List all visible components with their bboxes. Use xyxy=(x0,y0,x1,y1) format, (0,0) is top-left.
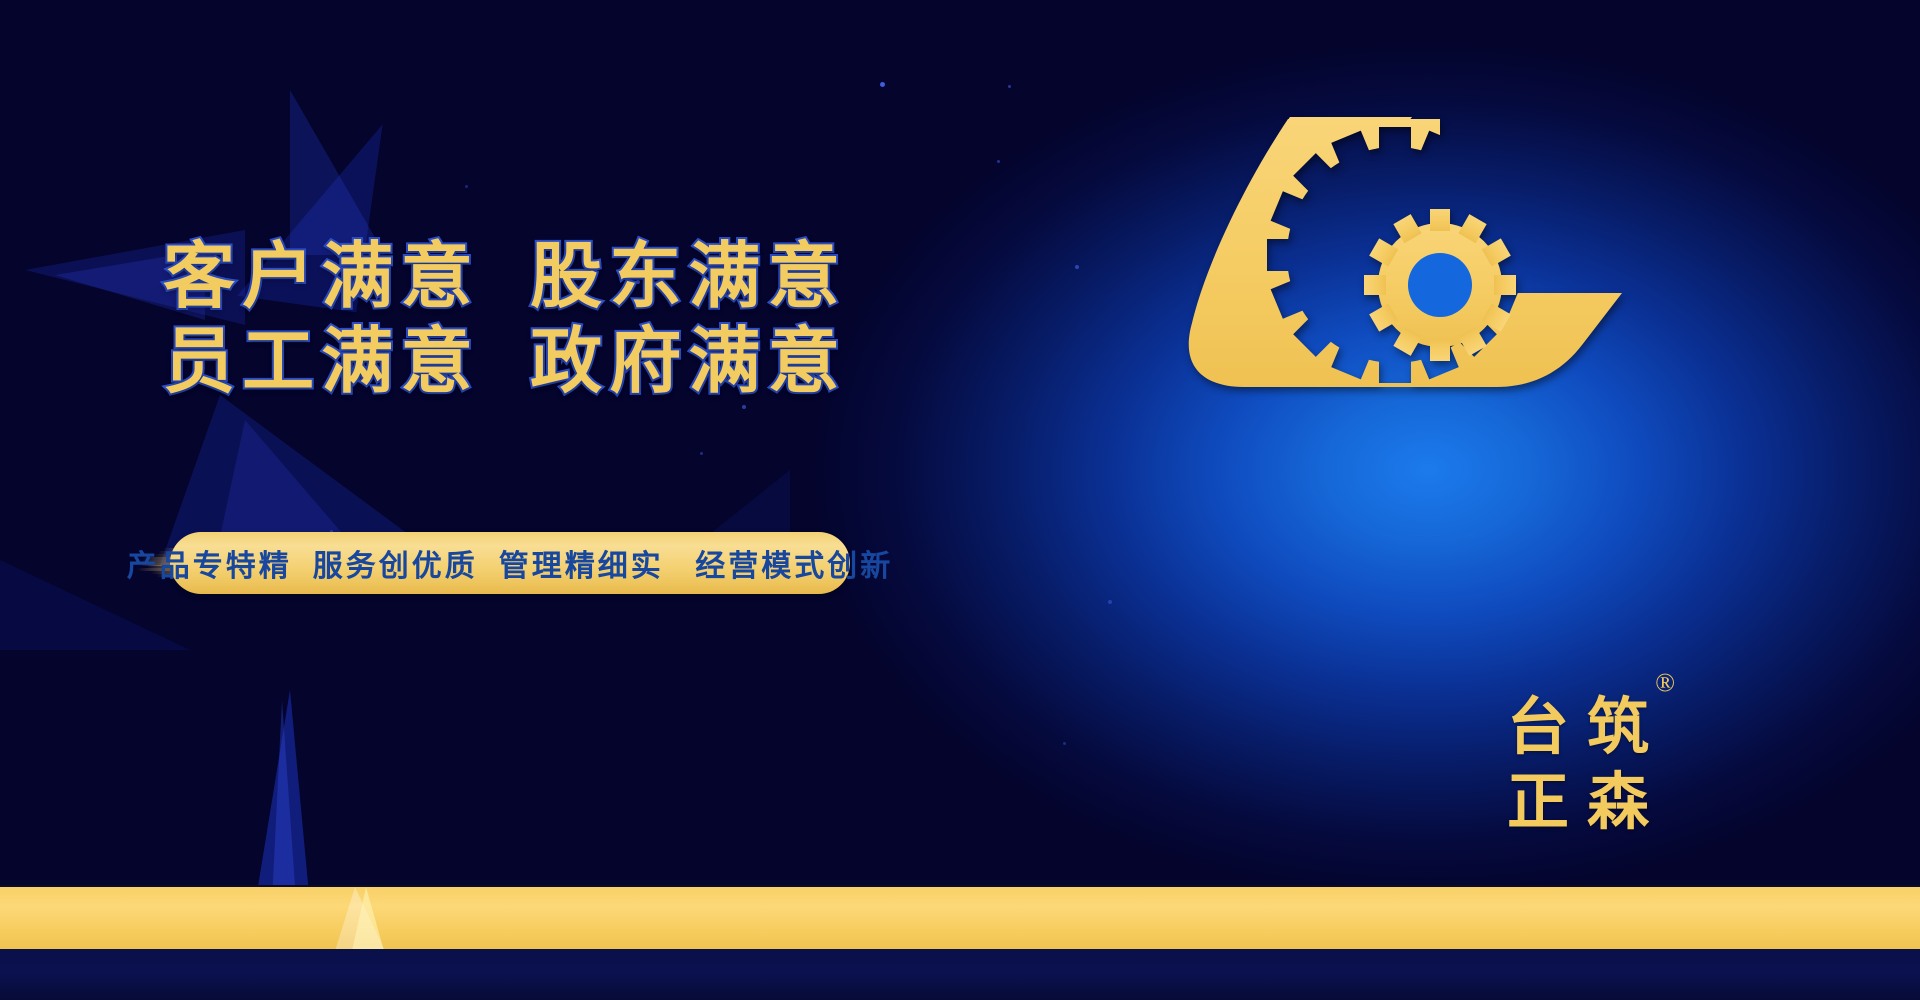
gold-bar-light-wedge xyxy=(352,887,384,951)
banner-stage: 客户满意 股东满意 员工满意 政府满意 产品专特精 服务创优质 管理精细实 经营… xyxy=(0,0,1920,1000)
star-dot xyxy=(465,185,468,188)
star-dot xyxy=(880,82,885,87)
seal-char-top-right: 筑 xyxy=(1578,690,1658,765)
star-dot xyxy=(997,160,1000,163)
registered-mark-icon: ® xyxy=(1655,668,1675,698)
slogan-pill: 产品专特精 服务创优质 管理精细实 经营模式创新 xyxy=(140,532,850,598)
slogan-text: 产品专特精 服务创优质 管理精细实 经营模式创新 xyxy=(170,532,850,594)
background-shard xyxy=(290,90,385,255)
star-dot xyxy=(1063,742,1066,745)
gear-swoosh-logo xyxy=(1140,95,1680,395)
seal-char-top-left: 台 xyxy=(1498,690,1578,765)
headline-line-1: 客户满意 股东满意 xyxy=(0,235,1010,320)
logo-gear-hub xyxy=(1408,253,1472,317)
star-dot xyxy=(742,405,746,409)
headline-line-2: 员工满意 政府满意 xyxy=(0,320,1010,405)
star-dot xyxy=(1008,85,1011,88)
bottom-gold-bar xyxy=(0,885,1920,953)
seal-char-bottom-left: 正 xyxy=(1498,765,1578,840)
star-dot xyxy=(1075,265,1079,269)
star-dot xyxy=(700,452,703,455)
brand-seal: ® 台 筑 正 森 xyxy=(1498,690,1673,850)
background-shard xyxy=(272,700,296,900)
star-dot xyxy=(1108,600,1112,604)
seal-char-bottom-right: 森 xyxy=(1578,765,1658,840)
headline: 客户满意 股东满意 员工满意 政府满意 xyxy=(0,235,1010,405)
footer-strip xyxy=(0,949,1920,1000)
